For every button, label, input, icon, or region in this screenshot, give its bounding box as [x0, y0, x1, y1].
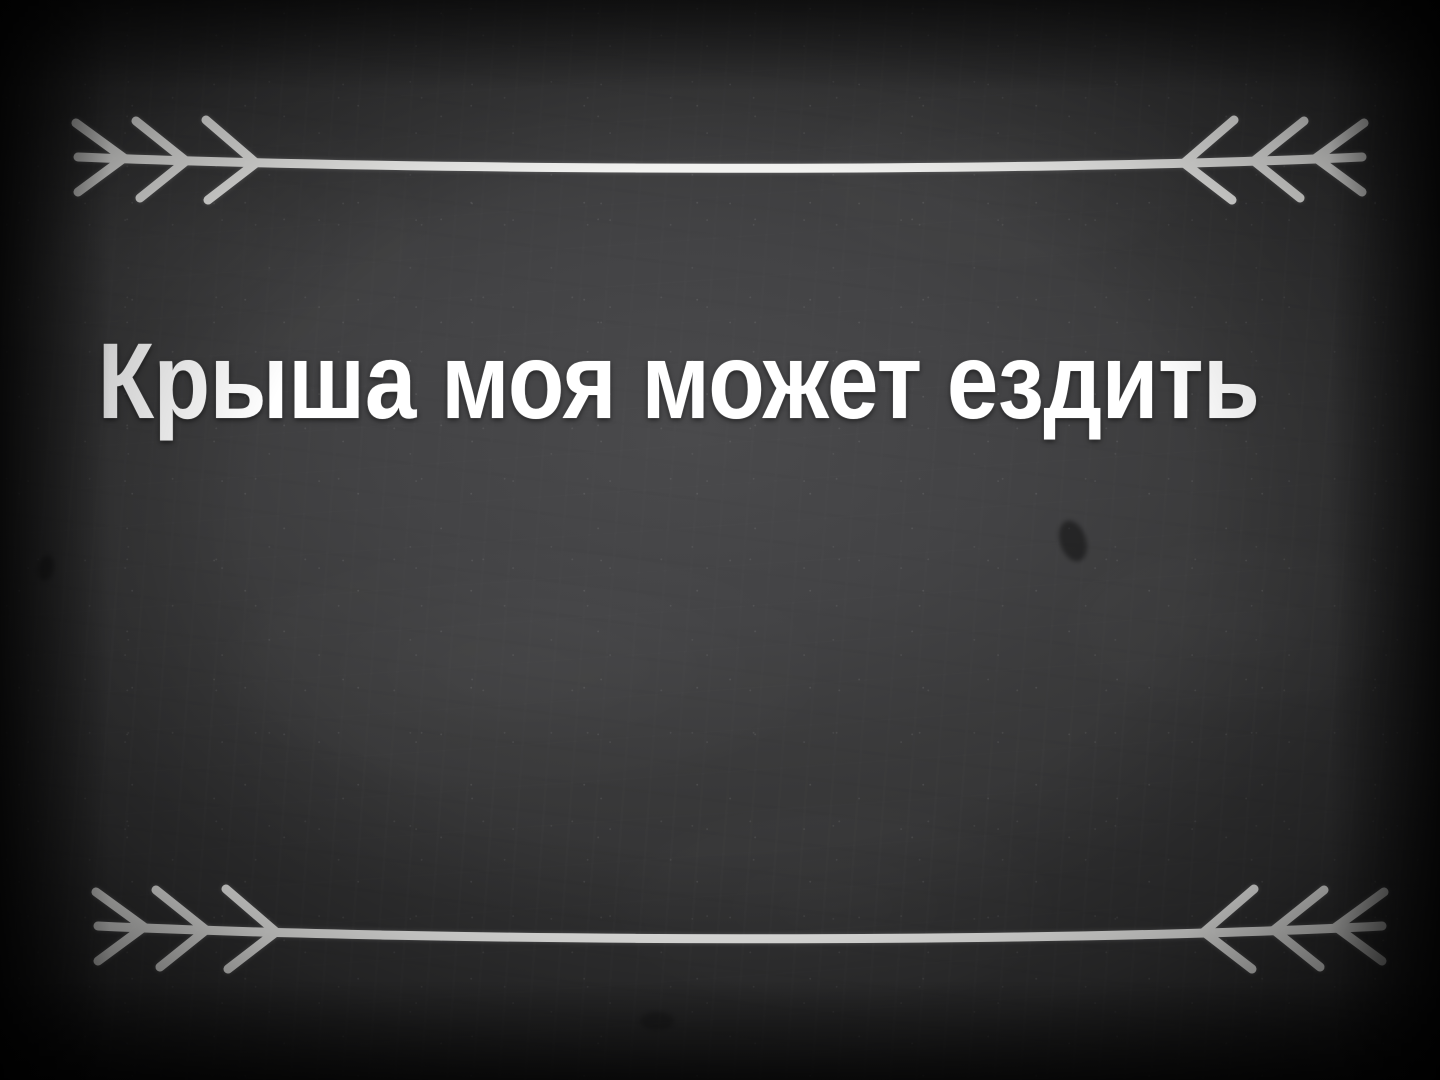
board-scuff-mark — [640, 1012, 674, 1030]
quote-line: Крыша моя может ездить — [98, 322, 1260, 440]
chalkboard-speckle — [0, 0, 1440, 1080]
quote-text: Крыша моя может ездить по-разному... Все… — [0, 322, 1440, 440]
chalkboard-quote-card: Крыша моя может ездить по-разному... Все… — [0, 0, 1440, 1080]
